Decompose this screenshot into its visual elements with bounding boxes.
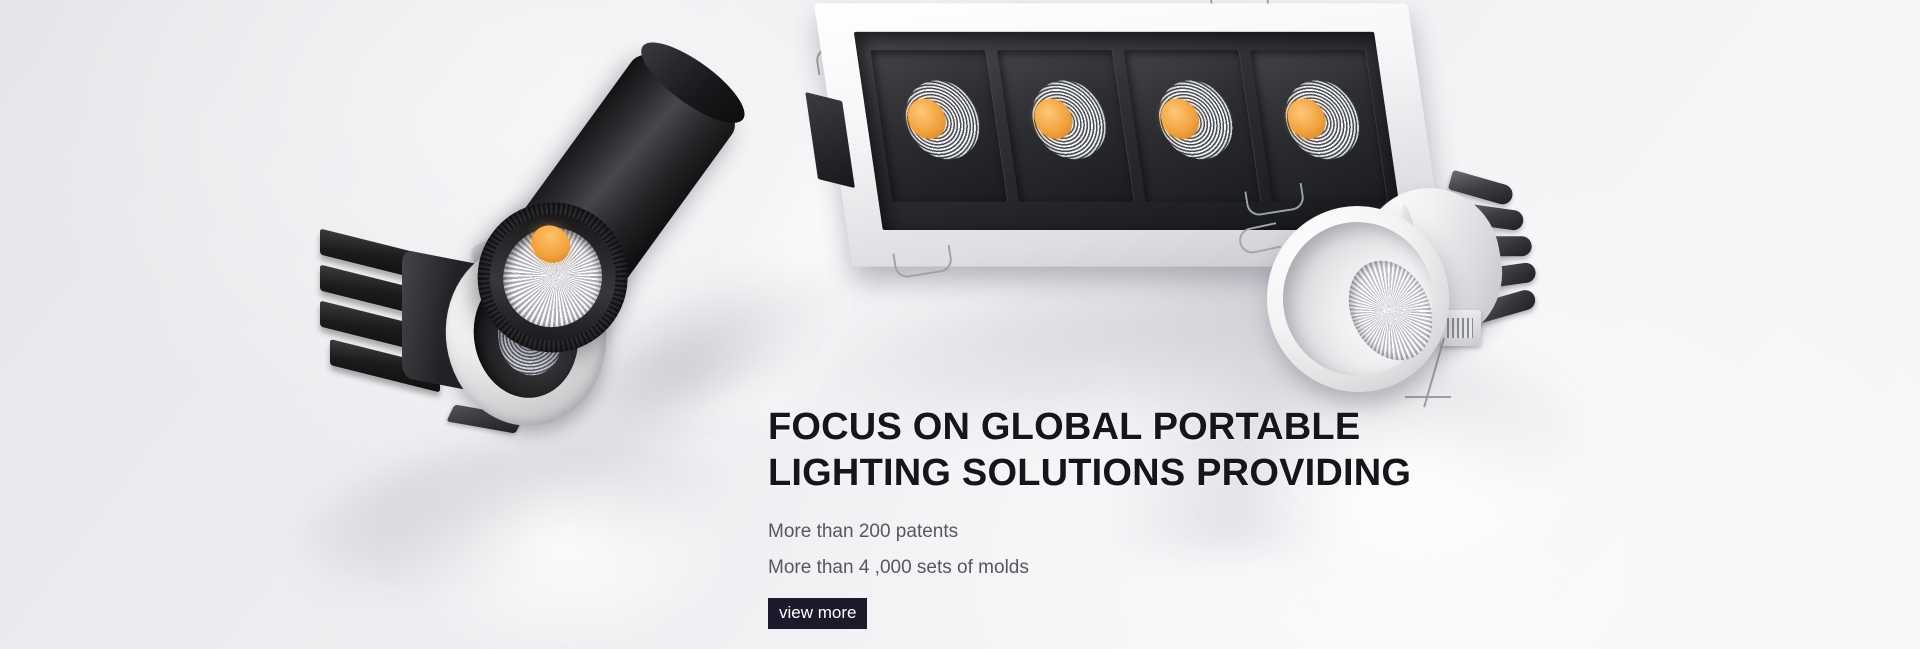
grille-cell [1124, 50, 1261, 202]
banner-text-block: FOCUS ON GLOBAL PORTABLE LIGHTING SOLUTI… [768, 404, 1528, 629]
shadow-downlight-left [291, 406, 729, 620]
faceted-reflector [1333, 247, 1449, 375]
faceted-reflector [484, 208, 622, 347]
product-adjustable-downlight-white [1245, 170, 1555, 420]
cob-led-lens [1027, 80, 1112, 159]
headline-line-1: FOCUS ON GLOBAL PORTABLE [768, 404, 1528, 450]
cob-led-lens [1280, 80, 1365, 159]
cob-led-lens [1154, 80, 1239, 159]
fixture-throat [1271, 210, 1445, 388]
mounting-wire [1405, 396, 1451, 398]
subtitle-patents: More than 200 patents [768, 518, 1528, 545]
headline-line-2: LIGHTING SOLUTIONS PROVIDING [768, 450, 1528, 496]
cob-led-lens [900, 80, 985, 159]
grille-cell [870, 50, 1007, 202]
grille-cell [997, 50, 1134, 202]
floor-glow-left [380, 470, 740, 649]
hero-banner: FOCUS ON GLOBAL PORTABLE LIGHTING SOLUTI… [0, 0, 1920, 649]
led-chip [524, 218, 578, 271]
view-more-button[interactable]: view more [768, 598, 867, 629]
page-title: FOCUS ON GLOBAL PORTABLE LIGHTING SOLUTI… [768, 404, 1528, 496]
subtitle-molds: More than 4 ,000 sets of molds [768, 554, 1528, 581]
